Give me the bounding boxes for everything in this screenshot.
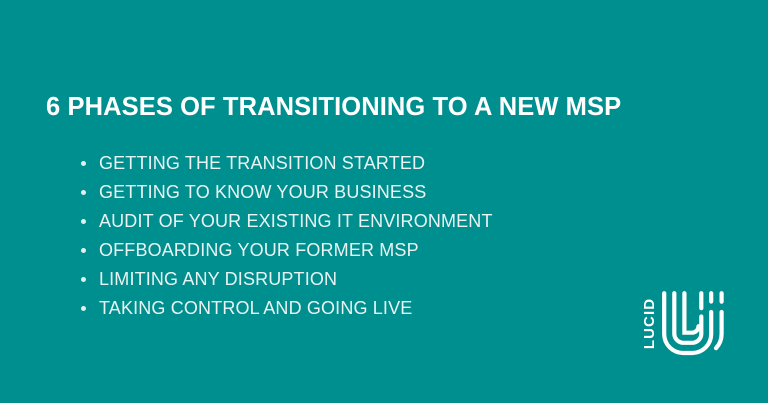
page-title: 6 PHASES OF TRANSITIONING TO A NEW MSP xyxy=(46,93,621,121)
list-item: GETTING THE TRANSITION STARTED xyxy=(78,149,493,178)
logo-wordmark-text: LUCID xyxy=(642,297,659,348)
phase-label: AUDIT OF YOUR EXISTING IT ENVIRONMENT xyxy=(99,211,493,232)
bullet-dot-icon xyxy=(81,219,86,224)
logo-wordmark: LUCID xyxy=(641,288,659,358)
list-item: GETTING TO KNOW YOUR BUSINESS xyxy=(78,178,493,207)
list-item: AUDIT OF YOUR EXISTING IT ENVIRONMENT xyxy=(78,207,493,236)
bullet-dot-icon xyxy=(81,190,86,195)
bullet-dot-icon xyxy=(81,277,86,282)
phase-label: OFFBOARDING YOUR FORMER MSP xyxy=(99,240,419,261)
logo: LUCID xyxy=(641,288,731,358)
list-item: LIMITING ANY DISRUPTION xyxy=(78,265,493,294)
phase-list: GETTING THE TRANSITION STARTED GETTING T… xyxy=(78,149,493,323)
phase-label: GETTING TO KNOW YOUR BUSINESS xyxy=(99,182,426,203)
phase-label: TAKING CONTROL AND GOING LIVE xyxy=(99,298,412,319)
list-item: TAKING CONTROL AND GOING LIVE xyxy=(78,294,493,323)
phase-label: GETTING THE TRANSITION STARTED xyxy=(99,153,425,174)
bullet-dot-icon xyxy=(81,248,86,253)
list-item: OFFBOARDING YOUR FORMER MSP xyxy=(78,236,493,265)
phase-label: LIMITING ANY DISRUPTION xyxy=(99,269,337,290)
bullet-dot-icon xyxy=(81,161,86,166)
bullet-dot-icon xyxy=(81,306,86,311)
slide-canvas: 6 PHASES OF TRANSITIONING TO A NEW MSP G… xyxy=(0,0,768,403)
fingerprint-d-monogram-icon xyxy=(661,290,729,356)
